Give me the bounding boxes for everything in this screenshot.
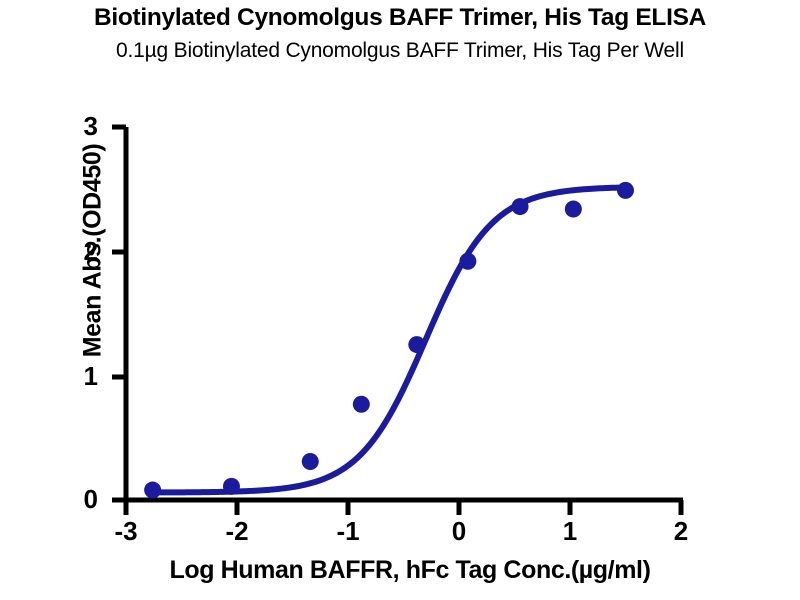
x-tick-label-neg2: -2 xyxy=(215,518,259,544)
y-tick-label-3: 3 xyxy=(58,113,98,139)
data-series-group xyxy=(144,182,634,499)
x-axis-label: Log Human BAFFR, hFc Tag Conc.(µg/ml) xyxy=(60,556,760,585)
chart-canvas xyxy=(0,0,800,600)
y-tick-label-1: 1 xyxy=(58,363,98,389)
data-point xyxy=(459,253,476,270)
data-point xyxy=(144,482,161,499)
data-point xyxy=(565,201,582,218)
plot-area: Mean Abs.(OD450) Log Human BAFFR, hFc Ta… xyxy=(0,0,800,600)
x-tick-label-2: 2 xyxy=(659,518,703,544)
x-tick-label-neg3: -3 xyxy=(104,518,148,544)
data-point xyxy=(223,478,240,495)
y-tick-label-2: 2 xyxy=(58,238,98,264)
fit-curve xyxy=(153,187,626,492)
data-point-markers xyxy=(144,182,634,499)
x-tick-label-1: 1 xyxy=(548,518,592,544)
data-point xyxy=(302,453,319,470)
x-tick-label-neg1: -1 xyxy=(326,518,370,544)
axes-group xyxy=(112,127,683,515)
data-point xyxy=(353,396,370,413)
data-point xyxy=(512,198,529,215)
data-point xyxy=(617,182,634,199)
x-tick-label-0: 0 xyxy=(437,518,481,544)
chart-figure: Biotinylated Cynomolgus BAFF Trimer, His… xyxy=(0,0,800,600)
y-tick-label-0: 0 xyxy=(58,486,98,512)
data-point xyxy=(408,336,425,353)
